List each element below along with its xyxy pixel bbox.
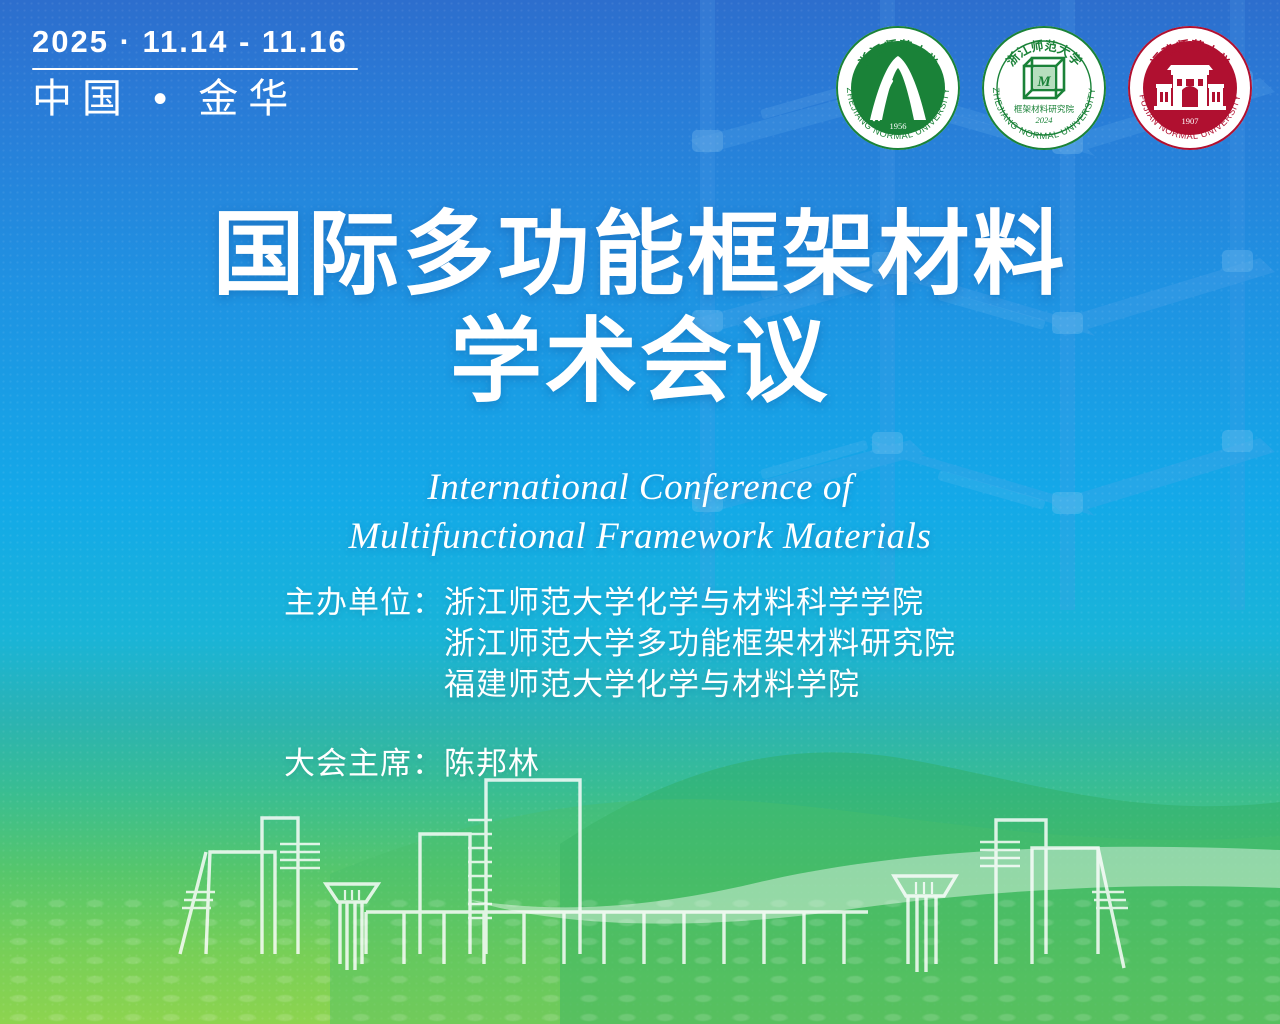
title-line-1: 国际多功能框架材料 xyxy=(0,204,1280,307)
fujian-normal-university-seal: 1907 福建师范大学 FUJIAN NORMAL UNIVERSITY xyxy=(1126,24,1254,152)
chair-name: 陈邦林 xyxy=(444,738,540,783)
main-title: 国际多功能框架材料 学术会议 xyxy=(0,204,1280,414)
svg-text:框架材料研究院: 框架材料研究院 xyxy=(1014,103,1075,115)
framework-materials-institute-seal: M 框架材料研究院 2024 浙江师范大学 ZHEJIANG NORMAL UN… xyxy=(980,24,1108,152)
svg-text:2024: 2024 xyxy=(1036,115,1054,125)
organizer-item: 浙江师范大学多功能框架材料研究院 xyxy=(444,624,956,665)
svg-text:1956: 1956 xyxy=(890,121,907,131)
hill-far xyxy=(560,752,1280,1024)
chair-label: 大会主席： xyxy=(284,738,444,783)
organizer-item: 福建师范大学化学与材料学院 xyxy=(444,665,956,706)
english-subtitle: International Conference of Multifunctio… xyxy=(0,463,1280,561)
logo-row: 1956 浙江师范大学 ZHEJIANG NORMAL UNIVERSITY xyxy=(834,24,1254,152)
svg-text:1907: 1907 xyxy=(1182,116,1199,126)
info-block: 主办单位： 浙江师范大学化学与材料科学学院 浙江师范大学多功能框架材料研究院 福… xyxy=(0,583,1280,783)
organizer-row: 主办单位： 浙江师范大学化学与材料科学学院 浙江师范大学多功能框架材料研究院 福… xyxy=(0,583,1280,706)
title-line-2: 学术会议 xyxy=(0,311,1280,414)
header-block: 2025 · 11.14 - 11.16 中国 • 金华 xyxy=(32,26,358,121)
skyline-structures xyxy=(180,780,1128,972)
header-divider xyxy=(32,68,358,70)
organizer-label: 主办单位： xyxy=(284,583,444,706)
organizer-list: 浙江师范大学化学与材料科学学院 浙江师范大学多功能框架材料研究院 福建师范大学化… xyxy=(444,583,956,706)
organizer-item: 浙江师范大学化学与材料科学学院 xyxy=(444,583,956,624)
svg-text:M: M xyxy=(1036,74,1051,90)
hill-mid xyxy=(330,799,1280,1024)
conference-date: 2025 · 11.14 - 11.16 xyxy=(32,26,358,59)
zhejiang-normal-university-seal: 1956 浙江师范大学 ZHEJIANG NORMAL UNIVERSITY xyxy=(834,24,962,152)
conference-city: 中国 • 金华 xyxy=(32,77,358,121)
subtitle-line-2: Multifunctional Framework Materials xyxy=(0,512,1280,561)
grass-texture xyxy=(0,894,1280,1024)
subtitle-line-1: International Conference of xyxy=(0,463,1280,512)
chair-row: 大会主席： 陈邦林 xyxy=(0,738,1280,783)
conference-poster: 2025 · 11.14 - 11.16 中国 • 金华 1956 浙江师范大学 xyxy=(0,0,1280,1024)
river-curve xyxy=(470,847,1280,924)
